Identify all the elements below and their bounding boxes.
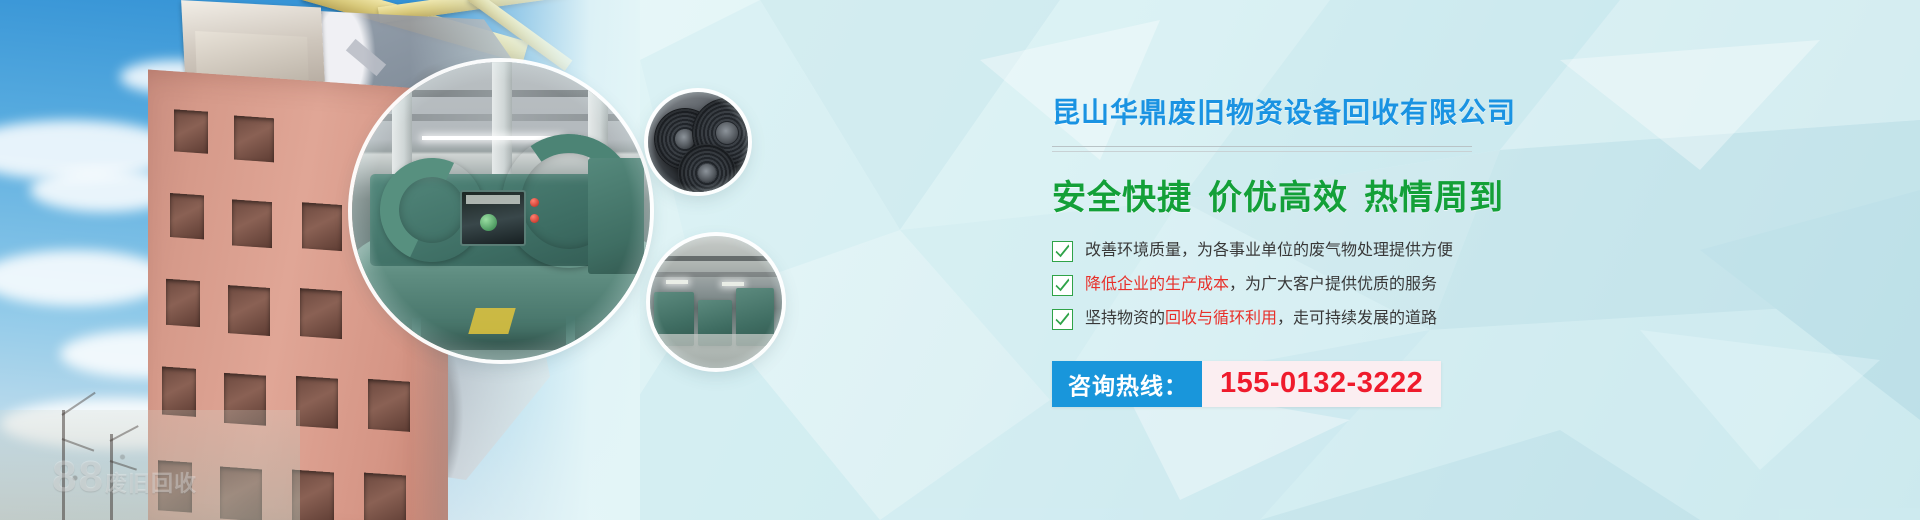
window: [302, 202, 342, 251]
support-leg: [412, 318, 421, 344]
window: [174, 109, 208, 153]
bullet-highlight: 降低企业的生产成本: [1085, 276, 1229, 293]
workshop-beam: [650, 256, 782, 261]
hall-column: [492, 62, 512, 182]
image-watermark: 88废旧回收: [52, 452, 197, 502]
slogan-part-2: 价优高效: [1208, 179, 1348, 217]
feature-bullet-list: 改善环境质量，为各事业单位的废气物处理提供方便 降低企业的生产成本，为广大客户提…: [1052, 241, 1572, 330]
steel-coil-scene: [648, 92, 748, 192]
chiller-scene: [352, 62, 650, 360]
tree-branch: [62, 438, 95, 452]
title-divider: [1052, 146, 1472, 152]
window: [364, 473, 406, 520]
bullet-plain-after: ，为广大客户提供优质的服务: [1229, 276, 1437, 293]
factory-workshop-photo: [650, 236, 782, 368]
bullet-plain-before: 改善环境质量，为各事业单位的废气物处理提供方便: [1085, 242, 1453, 259]
tree-branch: [61, 392, 95, 416]
workshop-beam: [650, 272, 782, 277]
hotline-bar[interactable]: 咨询热线： 155-0132-3222: [1052, 361, 1441, 407]
bullet-plain-before: 坚持物资的: [1085, 310, 1165, 327]
banner-text-content: 昆山华鼎废旧物资设备回收有限公司 安全快捷价优高效热情周到 改善环境质量，为各事…: [1052, 96, 1572, 407]
window: [166, 279, 200, 327]
workshop-scene: [650, 236, 782, 368]
control-panel: [460, 190, 526, 246]
workshop-floor: [650, 334, 782, 368]
workshop-lamp: [666, 280, 688, 284]
window: [368, 379, 410, 432]
window: [228, 285, 270, 336]
watermark-text: 废旧回收: [105, 471, 197, 496]
window: [170, 193, 204, 239]
feature-bullet-text: 改善环境质量，为各事业单位的废气物处理提供方便: [1085, 243, 1453, 259]
tree-branch: [110, 425, 139, 442]
feature-bullet-text: 坚持物资的回收与循环利用，走可持续发展的道路: [1085, 311, 1437, 327]
window: [232, 199, 272, 248]
slogan-part-3: 热情周到: [1364, 179, 1504, 217]
promo-banner: 88废旧回收: [0, 0, 1920, 520]
window: [300, 288, 342, 339]
steel-coil-photo: [648, 92, 748, 192]
window: [296, 376, 338, 429]
panel-red-button: [530, 198, 539, 207]
window: [234, 116, 274, 163]
check-icon: [1052, 309, 1073, 330]
support-leg: [566, 316, 575, 346]
floor-marking: [468, 308, 515, 334]
bullet-plain-after: ，走可持续发展的道路: [1277, 310, 1437, 327]
feature-bullet-item: 降低企业的生产成本，为广大客户提供优质的服务: [1052, 275, 1572, 296]
hotline-number[interactable]: 155-0132-3222: [1202, 361, 1441, 407]
watermark-number: 88: [52, 452, 105, 501]
feature-bullet-item: 坚持物资的回收与循环利用，走可持续发展的道路: [1052, 309, 1572, 330]
feature-bullet-text: 降低企业的生产成本，为广大客户提供优质的服务: [1085, 277, 1437, 293]
check-icon: [1052, 241, 1073, 262]
panel-label: [466, 195, 520, 204]
feature-bullet-item: 改善环境质量，为各事业单位的废气物处理提供方便: [1052, 241, 1572, 262]
slogan: 安全快捷价优高效热情周到: [1052, 170, 1572, 219]
chiller-cabinet: [588, 158, 644, 274]
company-title: 昆山华鼎废旧物资设备回收有限公司: [1052, 96, 1572, 130]
bullet-highlight: 回收与循环利用: [1165, 310, 1277, 327]
workshop-lamp: [722, 282, 744, 286]
panel-indicator: [480, 214, 497, 231]
panel-red-button: [530, 214, 539, 223]
check-icon: [1052, 275, 1073, 296]
hotline-label: 咨询热线：: [1052, 361, 1202, 407]
industrial-chiller-photo: [352, 62, 650, 360]
slogan-part-1: 安全快捷: [1052, 179, 1192, 217]
